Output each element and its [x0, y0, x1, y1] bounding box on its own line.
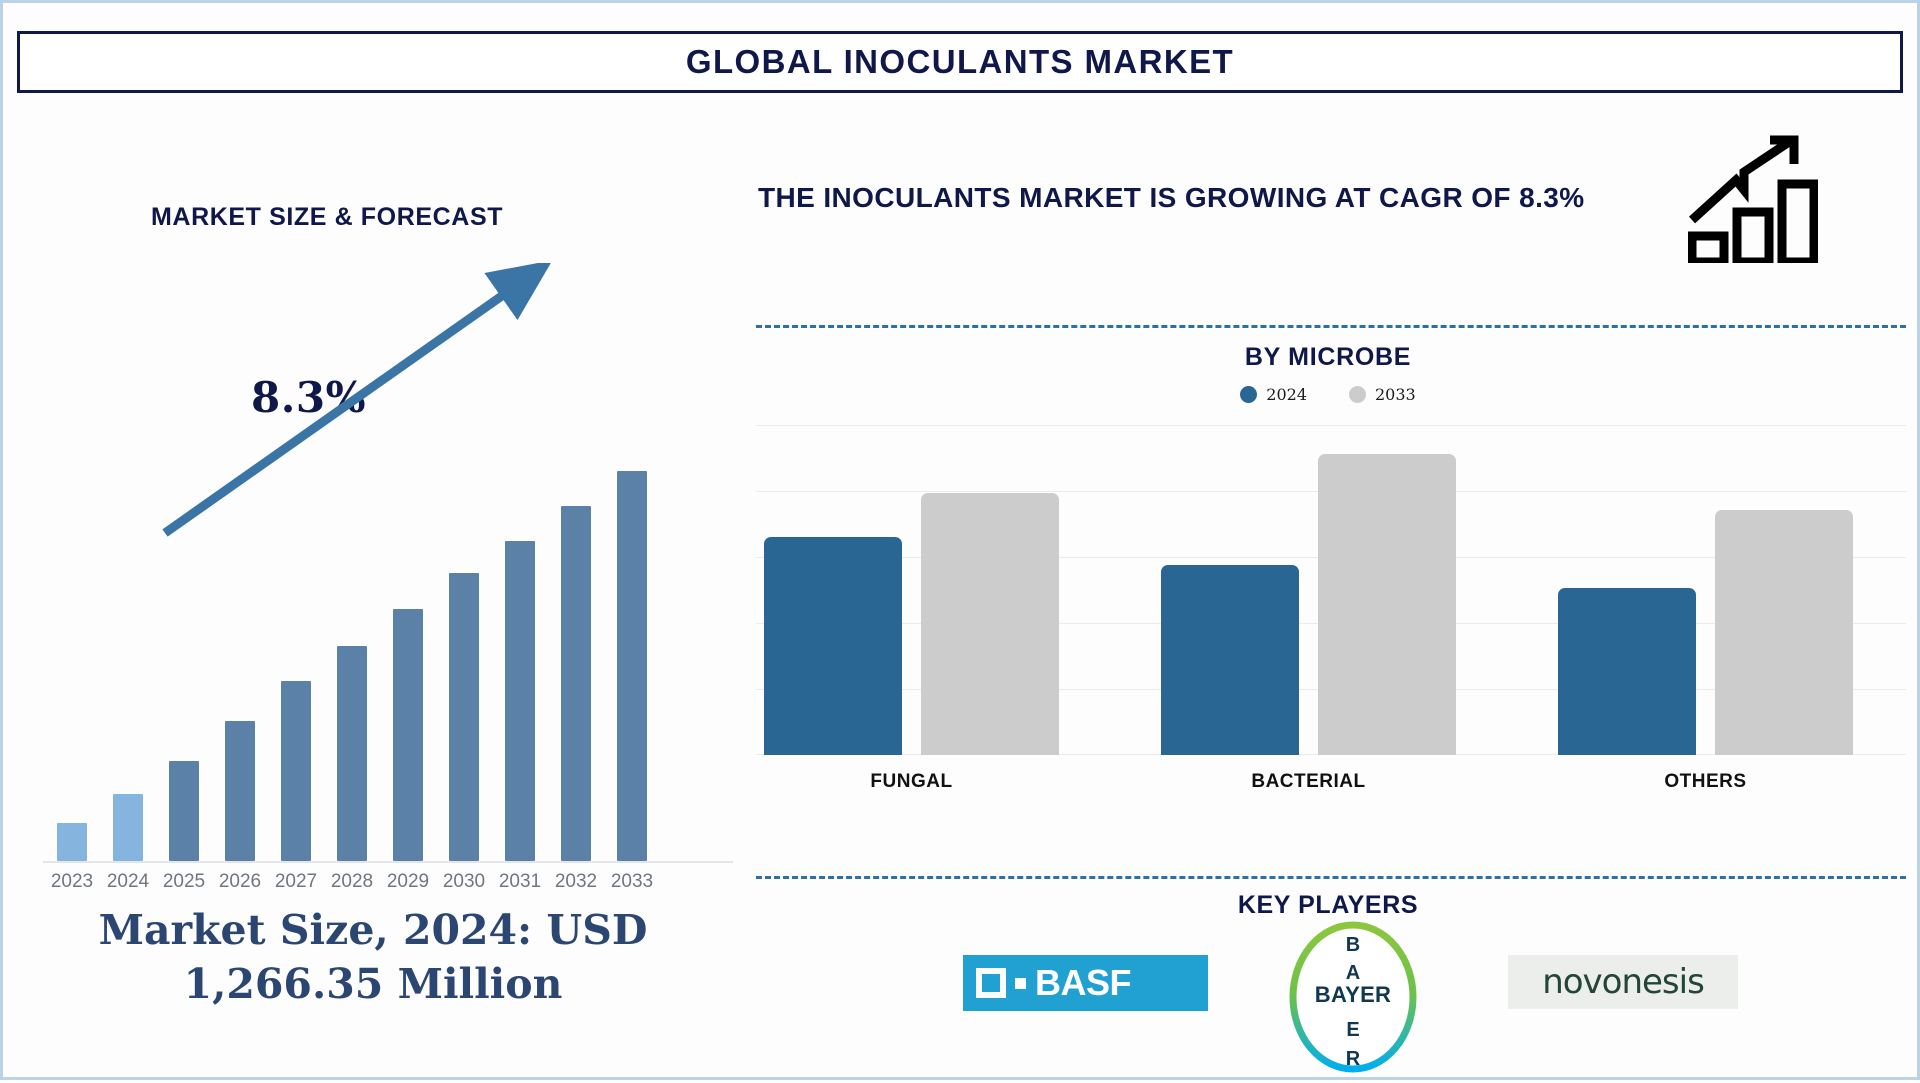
bar-2024	[113, 794, 143, 861]
divider-bottom	[756, 876, 1906, 879]
market-size-forecast-heading: MARKET SIZE & FORECAST	[151, 203, 503, 232]
basf-dot-icon	[1015, 978, 1026, 989]
by-microbe-panel: THE INOCULANTS MARKET IS GROWING AT CAGR…	[748, 103, 1920, 1083]
page-title: GLOBAL INOCULANTS MARKET	[686, 43, 1234, 81]
bar-2032	[561, 506, 591, 861]
bar-bacterial-2033	[1318, 454, 1456, 755]
by-microbe-bar-chart	[756, 425, 1906, 755]
market-size-line-1: Market Size, 2024: USD	[23, 903, 723, 957]
category-label-fungal: FUNGAL	[764, 771, 1059, 793]
year-label: 2030	[436, 871, 492, 893]
novonesis-logo: novonesis	[1508, 955, 1738, 1009]
category-label-others: OTHERS	[1558, 771, 1853, 793]
bar-fungal-2033	[921, 493, 1059, 755]
legend-label: 2024	[1266, 385, 1307, 404]
market-size-value: Market Size, 2024: USD 1,266.35 Million	[23, 903, 723, 1011]
year-label: 2031	[492, 871, 548, 893]
bayer-wordmark: BAYER	[1313, 982, 1394, 1008]
year-label: 2029	[380, 871, 436, 893]
bar-2023	[57, 823, 87, 861]
by-microbe-category-axis: FUNGAL BACTERIAL OTHERS	[756, 771, 1906, 801]
by-microbe-legend: 2024 2033	[748, 385, 1908, 404]
legend-item-2033: 2033	[1349, 385, 1416, 404]
legend-item-2024: 2024	[1240, 385, 1307, 404]
market-size-bar-chart	[43, 403, 733, 863]
key-players-logos: BASF BAYER BAYER	[748, 933, 1908, 1083]
market-size-year-axis: 2023 2024 2025 2026 2027 2028 2029 2030 …	[43, 871, 733, 897]
bar-2031	[505, 541, 535, 861]
year-label: 2032	[548, 871, 604, 893]
year-label: 2033	[604, 871, 660, 893]
basf-logo: BASF	[963, 955, 1208, 1011]
year-label: 2024	[100, 871, 156, 893]
basf-wordmark: BASF	[1035, 962, 1131, 1004]
chart-baseline	[43, 861, 733, 863]
page-title-box: GLOBAL INOCULANTS MARKET	[17, 31, 1903, 93]
bar-2030	[449, 573, 479, 861]
bar-2025	[169, 761, 199, 861]
legend-dot-icon	[1349, 386, 1366, 403]
legend-dot-icon	[1240, 386, 1257, 403]
gridline	[756, 425, 1906, 426]
bar-others-2033	[1715, 510, 1853, 755]
divider-top	[756, 325, 1906, 328]
year-label: 2023	[44, 871, 100, 893]
year-label: 2025	[156, 871, 212, 893]
market-size-forecast-panel: MARKET SIZE & FORECAST 8.3%	[3, 103, 748, 1083]
market-size-line-2: 1,266.35 Million	[23, 957, 723, 1011]
bar-bacterial-2024	[1161, 565, 1299, 755]
bar-others-2024	[1558, 588, 1696, 755]
bar-chart-growth-icon	[1688, 128, 1818, 263]
bar-2033	[617, 471, 647, 861]
growth-statement: THE INOCULANTS MARKET IS GROWING AT CAGR…	[758, 178, 1698, 219]
bar-2028	[337, 646, 367, 861]
year-label: 2027	[268, 871, 324, 893]
bar-2029	[393, 609, 423, 861]
key-players-title: KEY PLAYERS	[748, 891, 1908, 920]
year-label: 2028	[324, 871, 380, 893]
bayer-logo: BAYER BAYER	[1278, 919, 1428, 1074]
novonesis-wordmark: novonesis	[1542, 962, 1704, 1002]
infographic-page: GLOBAL INOCULANTS MARKET MARKET SIZE & F…	[0, 0, 1920, 1080]
bar-2026	[225, 721, 255, 861]
year-label: 2026	[212, 871, 268, 893]
by-microbe-title: BY MICROBE	[748, 343, 1908, 372]
bar-2027	[281, 681, 311, 861]
category-label-bacterial: BACTERIAL	[1161, 771, 1456, 793]
basf-square-icon	[976, 968, 1006, 998]
bar-fungal-2024	[764, 537, 902, 755]
legend-label: 2033	[1375, 385, 1416, 404]
